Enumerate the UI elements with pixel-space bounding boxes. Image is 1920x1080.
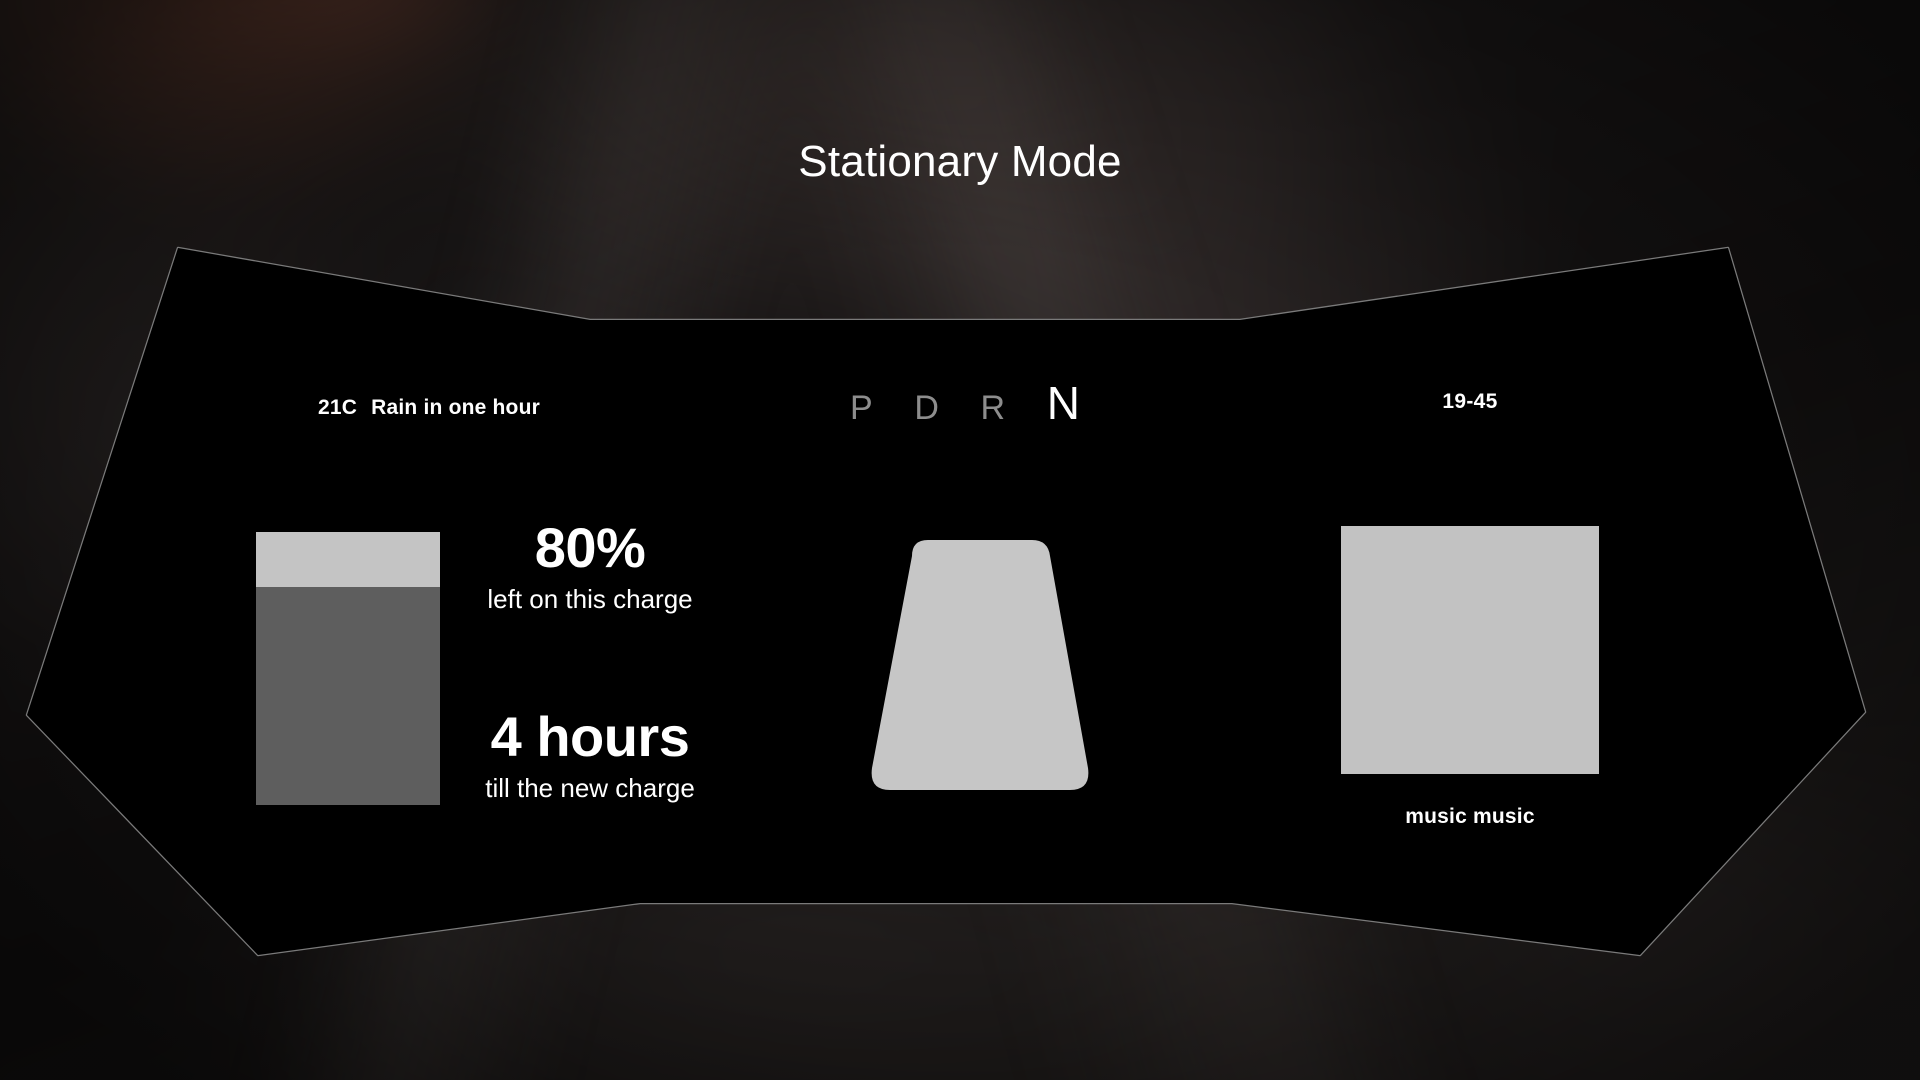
- now-playing-label: music music: [1340, 805, 1600, 829]
- charge-percent-label: left on this charge: [400, 584, 780, 615]
- cluster-panel: 21CRain in one hour 80% left on this cha…: [0, 0, 1920, 1080]
- gear-option-r[interactable]: R: [981, 391, 1006, 425]
- time-to-charge-label: till the new charge: [400, 773, 780, 804]
- temperature-value: 21C: [318, 396, 357, 419]
- forecast-text: Rain in one hour: [371, 396, 540, 419]
- instrument-cluster-screen: Stationary Mode 21CRain in one hour 80% …: [0, 0, 1920, 1080]
- road-ahead-path: [872, 540, 1089, 790]
- weather-info: 21CRain in one hour: [318, 396, 540, 420]
- charge-remaining-block: 80% left on this charge: [400, 519, 780, 615]
- time-to-charge-block: 4 hours till the new charge: [400, 708, 780, 804]
- gear-option-d[interactable]: D: [914, 391, 939, 425]
- gear-option-n[interactable]: N: [1047, 380, 1080, 426]
- road-ahead-shape: [860, 538, 1100, 793]
- time-to-charge-value: 4 hours: [400, 708, 780, 767]
- clock-display: 19-45: [1340, 390, 1600, 414]
- album-art-thumbnail[interactable]: [1341, 526, 1599, 774]
- charge-percent-value: 80%: [400, 519, 780, 578]
- gear-option-p[interactable]: P: [850, 391, 873, 425]
- gear-selector[interactable]: P D R N: [850, 380, 1080, 426]
